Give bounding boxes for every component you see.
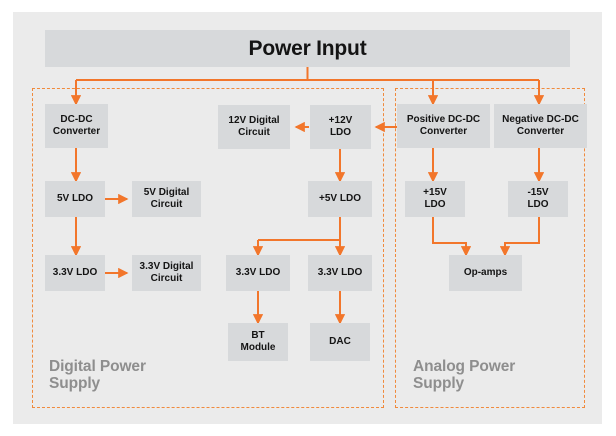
power-supply-block-diagram: Digital Power Supply Analog Power Supply…	[0, 0, 616, 436]
block-3v3-ldo-left[interactable]: 3.3V LDO	[45, 255, 105, 291]
block-12v-digital-circuit[interactable]: 12V Digital Circuit	[218, 105, 290, 149]
block-3v3-ldo-mid-a[interactable]: 3.3V LDO	[226, 255, 290, 291]
block-3v3-ldo-mid-b[interactable]: 3.3V LDO	[308, 255, 372, 291]
block-p5v-ldo[interactable]: +5V LDO	[308, 181, 372, 217]
block-5v-digital-circuit[interactable]: 5V Digital Circuit	[132, 181, 201, 217]
block-5v-ldo[interactable]: 5V LDO	[45, 181, 105, 217]
power-input-title: Power Input	[45, 30, 570, 67]
block-p15v-ldo[interactable]: +15V LDO	[405, 181, 465, 217]
block-bt-module[interactable]: BT Module	[228, 323, 288, 361]
block-3v3-digital-circuit[interactable]: 3.3V Digital Circuit	[132, 255, 201, 291]
block-positive-dcdc-converter[interactable]: Positive DC-DC Converter	[397, 104, 490, 148]
block-op-amps[interactable]: Op-amps	[449, 255, 522, 291]
block-negative-dcdc-converter[interactable]: Negative DC-DC Converter	[494, 104, 587, 148]
digital-power-supply-label: Digital Power Supply	[49, 358, 219, 392]
block-dcdc-converter[interactable]: DC-DC Converter	[45, 104, 108, 148]
diagram-card: Digital Power Supply Analog Power Supply	[13, 12, 602, 424]
block-n15v-ldo[interactable]: -15V LDO	[508, 181, 568, 217]
analog-power-supply-label: Analog Power Supply	[413, 358, 583, 392]
block-dac[interactable]: DAC	[310, 323, 370, 361]
block-p12v-ldo[interactable]: +12V LDO	[310, 105, 371, 149]
